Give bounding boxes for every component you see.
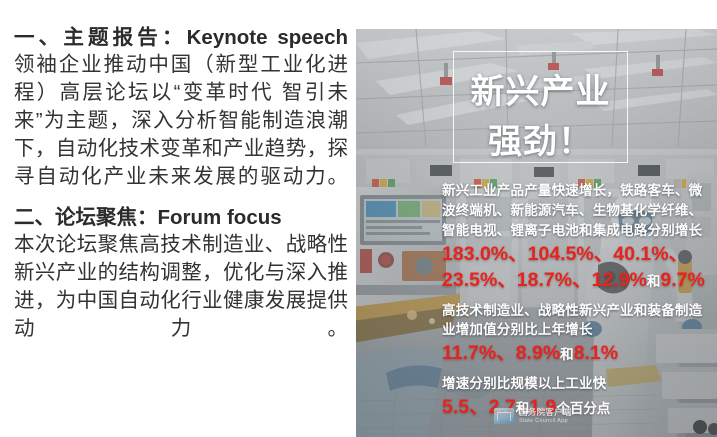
stat-numbers-2: 11.7%、8.9%和8.1% xyxy=(442,340,714,367)
section-2-heading: 二、论坛聚焦：Forum focus xyxy=(14,204,348,231)
stat-numbers-1-line-b: 23.5%、18.7%、12.9%和9.7% xyxy=(442,267,714,294)
stat-nums-1b-pre: 23.5%、18.7%、12.9% xyxy=(442,269,647,291)
slide-root: 一、主题报告：Keynote speech 领袖企业推动中国（新型工业化进程）高… xyxy=(0,0,717,437)
stats-spacer-2 xyxy=(442,367,714,374)
stat-nums-2-pre: 11.7%、8.9% xyxy=(442,342,560,364)
stat-numbers-1-line-a: 183.0%、104.5%、40.1%、 xyxy=(442,241,714,268)
stat-paragraph-1: 新兴工业产品产量快速增长，铁路客车、微波终端机、新能源汽车、生物基化学纤维、智能… xyxy=(442,181,714,241)
watermark-en-label: State Council App xyxy=(519,418,572,424)
stat-nums-1a-value: 183.0%、104.5%、40.1%、 xyxy=(442,243,688,265)
stat-numbers-3: 5.5、2.7和1.9个百分点 xyxy=(442,394,714,421)
watermark-text: 国务院客户端 State Council App xyxy=(519,408,572,424)
stat-nums-2-post: 8.1% xyxy=(574,342,618,364)
left-text-column: 一、主题报告：Keynote speech 领袖企业推动中国（新型工业化进程）高… xyxy=(14,24,348,424)
stat-paragraph-3: 增速分别比规模以上工业快 xyxy=(442,374,714,394)
statistics-overlay: 新兴工业产品产量快速增长，铁路客车、微波终端机、新能源汽车、生物基化学纤维、智能… xyxy=(442,181,714,420)
photo-panel: 新兴产业 强劲！ 新兴工业产品产量快速增长，铁路客车、微波终端机、新能源汽车、生… xyxy=(356,29,717,437)
stat-paragraph-2: 高技术制造业、战略性新兴产业和装备制造业增加值分别比上年增长 xyxy=(442,301,714,341)
stat-nums-1b-conj: 和 xyxy=(647,274,661,289)
watermark-cn-label: 国务院客户端 xyxy=(519,408,572,418)
stat-nums-2-conj: 和 xyxy=(560,347,574,362)
section-1-body: 领袖企业推动中国（新型工业化进程）高层论坛以“变革时代 智引未来”为主题，深入分… xyxy=(14,51,348,190)
section-1-heading: 一、主题报告：Keynote speech xyxy=(14,24,348,51)
section-2-body: 本次论坛聚焦高技术制造业、战略性新兴产业的结构调整，优化与深入推进，为中国自动化… xyxy=(14,231,348,343)
watermark: 国务院客户端 State Council App xyxy=(494,408,572,424)
photo-title-line-1: 新兴产业 xyxy=(453,64,628,113)
paragraph-spacer xyxy=(14,191,348,204)
stat-nums-1b-post: 9.7% xyxy=(660,269,704,291)
stats-spacer-1 xyxy=(442,294,714,301)
photo-title-line-2: 强劲！ xyxy=(453,114,628,163)
state-council-logo-icon xyxy=(494,408,514,424)
photo-title-block: 新兴产业 强劲！ xyxy=(453,51,628,163)
